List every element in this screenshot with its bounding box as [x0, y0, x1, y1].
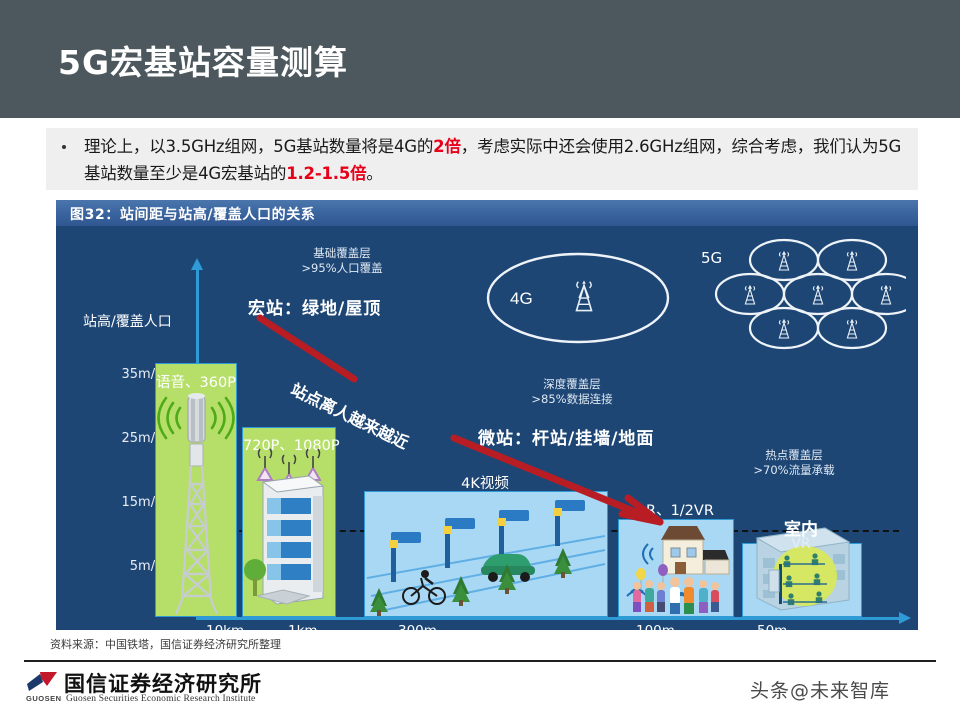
block-label-2: 4K视频 [364, 472, 606, 493]
block-sublabel-4: VR [742, 536, 860, 552]
layer-note-deep-detail: >85%数据连接 [482, 392, 662, 407]
page-title: 5G宏基站容量测算 [58, 36, 348, 84]
layer-note-deep: 深度覆盖层 >85%数据连接 [482, 377, 662, 407]
crowd-house-icon [619, 520, 733, 616]
cell-diagram-4g: 4G [478, 242, 678, 352]
x-axis-arrow-icon [899, 612, 911, 624]
summary-callout: 理论上，以3.5GHz组网，5G基站数量将是4G的2倍，考虑实际中还会使用2.6… [46, 128, 918, 190]
coverage-block-720p-1080p: 720P、1080P [242, 427, 336, 617]
footer-divider [24, 660, 936, 662]
layer-note-hotspot-title: 热点覆盖层 [704, 448, 884, 463]
chart-canvas: 站高/覆盖人口 站间距 35m/95% 25m/90% 15m/85% 5m/7… [56, 226, 918, 630]
coverage-block-voice-360p: 语音、360P [155, 363, 237, 617]
layer-note-basic-detail: >95%人口覆盖 [252, 261, 432, 276]
building-microsite-icon [243, 428, 335, 616]
figure-caption: 图32：站间距与站高/覆盖人口的关系 [70, 204, 315, 224]
x-tick-label-1: 1km [288, 623, 318, 630]
layer-note-basic: 基础覆盖层 >95%人口覆盖 [252, 246, 432, 276]
logo-english-name: Guosen Securities Economic Research Inst… [66, 694, 255, 704]
summary-highlight-2: 1.2-1.5倍 [286, 164, 366, 183]
summary-text-part1: 理论上，以3.5GHz组网，5G基站数量将是4G的 [84, 137, 433, 156]
cell-4g-label: 4G [510, 289, 533, 308]
cell-5g-label: 5G [701, 249, 722, 267]
coverage-block-4k-video [364, 491, 608, 617]
x-axis-title: 站间距 [853, 626, 894, 630]
x-tick-label-2: 300m [398, 623, 437, 630]
summary-text-part3: 。 [366, 164, 382, 183]
site-type-micro: 微站：杆站/挂墙/地面 [478, 424, 654, 449]
cell-diagram-5g [706, 232, 906, 360]
source-note: 资料来源：中国铁塔，国信证券经济研究所整理 [50, 636, 281, 652]
layer-note-deep-title: 深度覆盖层 [482, 377, 662, 392]
x-tick-label-3: 100m [636, 623, 675, 630]
layer-note-hotspot: 热点覆盖层 >70%流量承载 [704, 448, 884, 478]
bullet-marker-icon [62, 145, 66, 149]
layer-note-hotspot-detail: >70%流量承载 [704, 463, 884, 478]
figure-container: 图32：站间距与站高/覆盖人口的关系 站高/覆盖人口 站间距 35m/95% 2… [46, 200, 918, 630]
guosen-logo-icon [26, 670, 60, 696]
x-tick-label-4: 50m [757, 623, 787, 630]
coverage-block-ar-vr [618, 519, 734, 617]
summary-text: 理论上，以3.5GHz组网，5G基站数量将是4G的2倍，考虑实际中还会使用2.6… [84, 133, 904, 187]
y-axis-title: 站高/覆盖人口 [83, 311, 172, 331]
x-tick-label-0: 10km [206, 623, 244, 630]
watermark: 头条@未来智库 [750, 676, 890, 703]
site-type-macro: 宏站：绿地/屋顶 [248, 294, 381, 319]
street-scene-icon [365, 492, 607, 616]
y-axis-arrow-icon [191, 258, 203, 270]
layer-note-basic-title: 基础覆盖层 [252, 246, 432, 261]
logo-mark-text: GUOSEN [26, 694, 62, 703]
summary-highlight-1: 2倍 [433, 137, 461, 156]
block-label-3: AR、1/2VR [610, 499, 740, 520]
macro-tower-icon [156, 364, 236, 616]
